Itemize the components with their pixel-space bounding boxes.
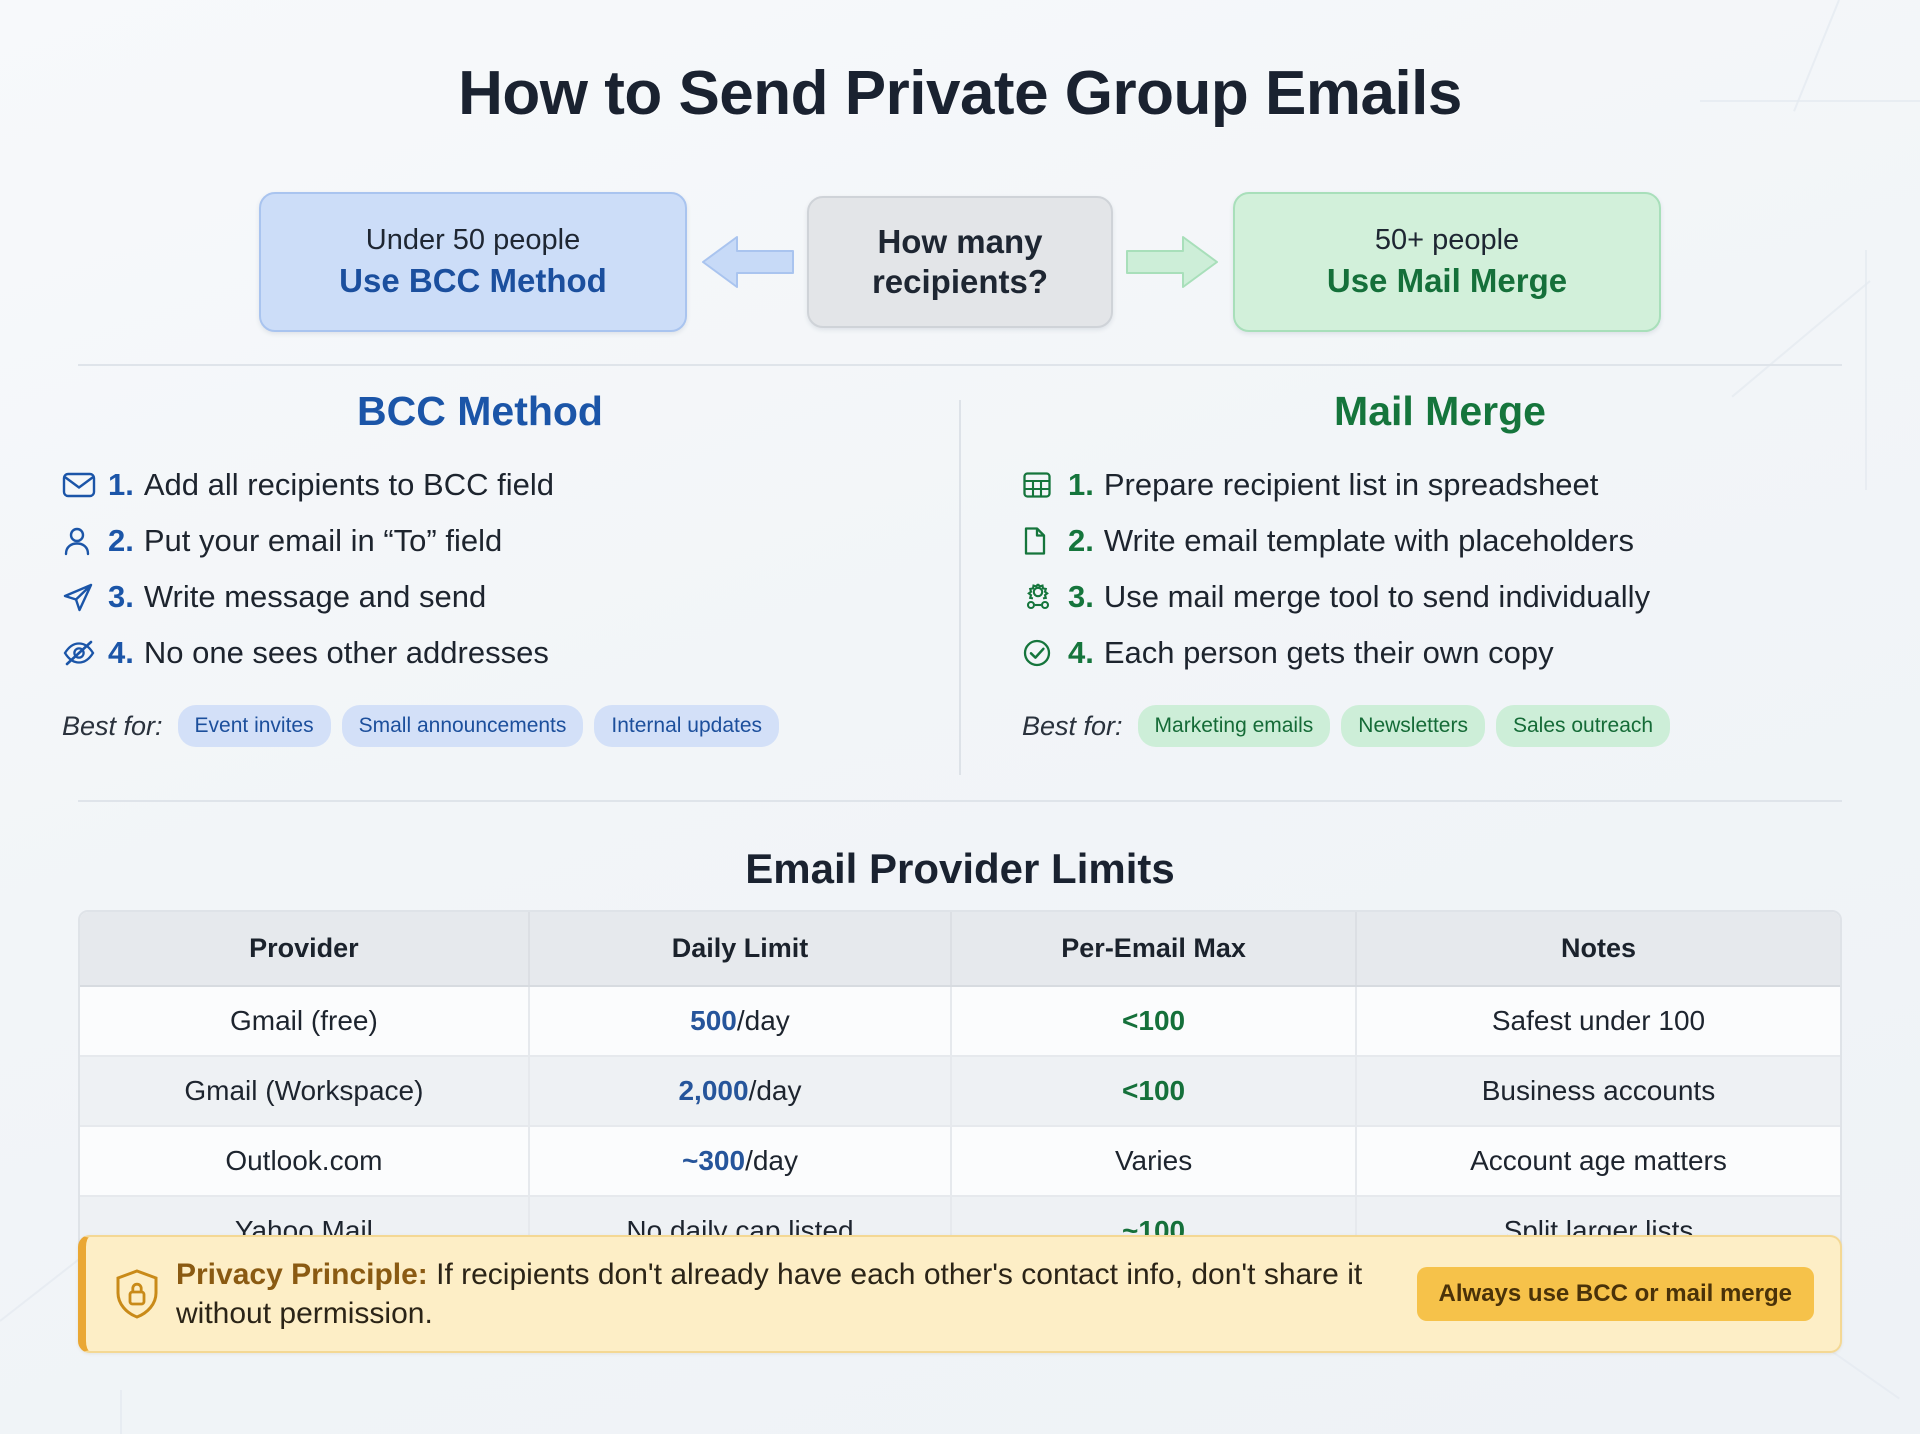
cell-daily-limit: ~300/day	[529, 1126, 951, 1196]
cell-notes: Account age matters	[1356, 1126, 1840, 1196]
table-row: Outlook.com ~300/day Varies Account age …	[80, 1126, 1840, 1196]
privacy-banner: Privacy Principle: If recipients don't a…	[78, 1235, 1842, 1353]
column-header-notes: Notes	[1356, 912, 1840, 986]
step-text: Add all recipients to BCC field	[144, 467, 554, 503]
tag-chip: Sales outreach	[1496, 705, 1670, 747]
step-list-bcc: 1. Add all recipients to BCC field 2. Pu…	[62, 457, 898, 681]
step-number: 4.	[1068, 635, 1094, 671]
step-item: 2. Put your email in “To” field	[62, 513, 898, 569]
step-number: 2.	[1068, 523, 1094, 559]
tag-chip: Internal updates	[594, 705, 779, 747]
decision-flow: Under 50 people Use BCC Method How many …	[0, 192, 1920, 332]
step-item: 3. Write message and send	[62, 569, 898, 625]
flow-question-line1: How many	[877, 222, 1042, 262]
step-text: Prepare recipient list in spreadsheet	[1104, 467, 1599, 503]
arrow-right-icon	[1123, 233, 1223, 291]
methods-section: BCC Method 1. Add all recipients to BCC …	[0, 388, 1920, 768]
person-icon	[62, 524, 108, 558]
best-for-label: Best for:	[1022, 711, 1123, 742]
column-header-per-email: Per-Email Max	[951, 912, 1356, 986]
arrow-left-wrap	[687, 233, 807, 291]
step-text: Write email template with placeholders	[1104, 523, 1634, 559]
document-icon	[1022, 524, 1068, 558]
column-header-daily: Daily Limit	[529, 912, 951, 986]
step-item: 4. No one sees other addresses	[62, 625, 898, 681]
step-number: 1.	[1068, 467, 1094, 503]
send-icon	[62, 580, 108, 614]
cell-per-email: <100	[951, 986, 1356, 1056]
cell-per-email: <100	[951, 1056, 1356, 1126]
cell-provider: Gmail (free)	[80, 986, 529, 1056]
column-header-provider: Provider	[80, 912, 529, 986]
method-column-mailmerge: Mail Merge 1. Prepare recipient list in …	[960, 388, 1920, 768]
method-column-bcc: BCC Method 1. Add all recipients to BCC …	[0, 388, 960, 768]
eye-off-icon	[62, 636, 108, 670]
daily-limit-suffix: /day	[745, 1145, 798, 1176]
section-divider-top	[78, 364, 1842, 366]
step-item: 3. Use mail merge tool to send individua…	[1022, 569, 1858, 625]
flow-question-line2: recipients?	[872, 262, 1048, 302]
shield-lock-icon	[108, 1268, 166, 1320]
tag-chip: Event invites	[178, 705, 331, 747]
privacy-banner-text: Privacy Principle: If recipients don't a…	[166, 1255, 1417, 1333]
privacy-banner-strong: Privacy Principle:	[176, 1258, 428, 1291]
step-item: 4. Each person gets their own copy	[1022, 625, 1858, 681]
tag-chip: Small announcements	[342, 705, 584, 747]
best-for-row-bcc: Best for: Event invites Small announceme…	[62, 705, 898, 747]
flow-box-mailmerge: 50+ people Use Mail Merge	[1233, 192, 1661, 332]
flow-box-bcc-action: Use BCC Method	[339, 262, 607, 301]
table-row: Gmail (Workspace) 2,000/day <100 Busines…	[80, 1056, 1840, 1126]
step-number: 2.	[108, 523, 134, 559]
step-text: No one sees other addresses	[144, 635, 549, 671]
table-row: Gmail (free) 500/day <100 Safest under 1…	[80, 986, 1840, 1056]
step-number: 3.	[1068, 579, 1094, 615]
flow-box-bcc-condition: Under 50 people	[366, 223, 580, 257]
step-text: Use mail merge tool to send individually	[1104, 579, 1650, 615]
provider-limits-table: Provider Daily Limit Per-Email Max Notes…	[78, 910, 1842, 1267]
infographic-canvas: How to Send Private Group Emails Under 5…	[0, 0, 1920, 1434]
cell-daily-limit: 2,000/day	[529, 1056, 951, 1126]
step-number: 4.	[108, 635, 134, 671]
tag-chip: Newsletters	[1341, 705, 1485, 747]
flow-box-mailmerge-condition: 50+ people	[1375, 223, 1519, 257]
step-text: Write message and send	[144, 579, 486, 615]
flow-box-bcc: Under 50 people Use BCC Method	[259, 192, 687, 332]
section-divider-bottom	[78, 800, 1842, 802]
step-text: Each person gets their own copy	[1104, 635, 1554, 671]
daily-limit-suffix: /day	[749, 1075, 802, 1106]
daily-limit-suffix: /day	[737, 1005, 790, 1036]
cell-provider: Outlook.com	[80, 1126, 529, 1196]
flow-box-mailmerge-action: Use Mail Merge	[1327, 262, 1567, 301]
step-item: 2. Write email template with placeholder…	[1022, 513, 1858, 569]
cell-notes: Safest under 100	[1356, 986, 1840, 1056]
step-item: 1. Add all recipients to BCC field	[62, 457, 898, 513]
daily-limit-value: 500	[690, 1005, 737, 1036]
arrow-right-wrap	[1113, 233, 1233, 291]
spreadsheet-icon	[1022, 468, 1068, 502]
check-circle-icon	[1022, 636, 1068, 670]
tag-chip: Marketing emails	[1138, 705, 1331, 747]
daily-limit-value: ~300	[682, 1145, 745, 1176]
step-item: 1. Prepare recipient list in spreadsheet	[1022, 457, 1858, 513]
table-header-row: Provider Daily Limit Per-Email Max Notes	[80, 912, 1840, 986]
best-for-row-mailmerge: Best for: Marketing emails Newsletters S…	[1022, 705, 1858, 747]
background-decor-line	[120, 1390, 122, 1434]
arrow-left-icon	[697, 233, 797, 291]
cell-daily-limit: 500/day	[529, 986, 951, 1056]
cell-provider: Gmail (Workspace)	[80, 1056, 529, 1126]
cell-notes: Business accounts	[1356, 1056, 1840, 1126]
privacy-banner-badge: Always use BCC or mail merge	[1417, 1267, 1814, 1321]
method-title-bcc: BCC Method	[62, 388, 898, 435]
table-title: Email Provider Limits	[0, 845, 1920, 893]
step-text: Put your email in “To” field	[144, 523, 502, 559]
flow-box-question: How many recipients?	[807, 196, 1113, 328]
step-list-mailmerge: 1. Prepare recipient list in spreadsheet…	[1022, 457, 1858, 681]
page-title: How to Send Private Group Emails	[0, 58, 1920, 129]
step-number: 1.	[108, 467, 134, 503]
gears-icon	[1022, 580, 1068, 614]
step-number: 3.	[108, 579, 134, 615]
cell-per-email: Varies	[951, 1126, 1356, 1196]
method-title-mailmerge: Mail Merge	[1022, 388, 1858, 435]
best-for-label: Best for:	[62, 711, 163, 742]
daily-limit-value: 2,000	[678, 1075, 748, 1106]
envelope-icon	[62, 468, 108, 502]
